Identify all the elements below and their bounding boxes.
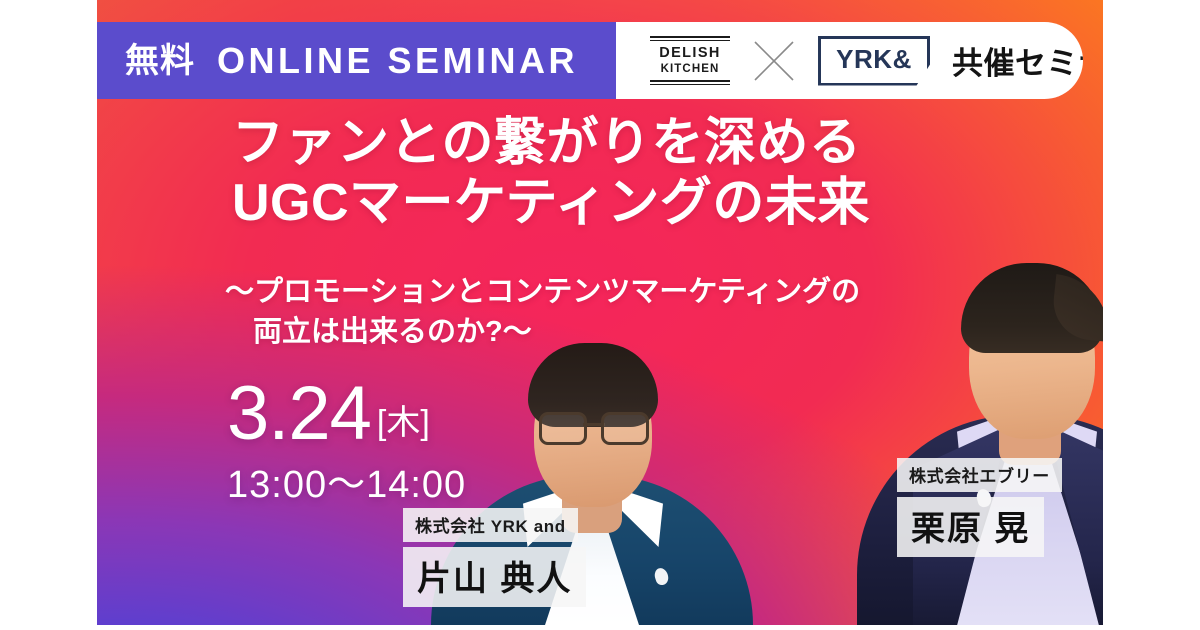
- subtitle-line-1: 〜プロモーションとコンテンツマーケティングの: [225, 272, 945, 312]
- subtitle-line-2: 両立は出来るのか?〜: [225, 312, 945, 352]
- subtitle-block: 〜プロモーションとコンテンツマーケティングの 両立は出来るのか?〜: [225, 272, 945, 352]
- delish-kitchen-logo: DELISH KITCHEN: [650, 36, 730, 86]
- title-line-1: ファンとの繋がりを深める: [232, 113, 992, 173]
- logo-rule-bottom-thin: [650, 84, 730, 86]
- event-date: 3.24: [227, 378, 371, 450]
- eyeglasses-icon: [539, 412, 649, 439]
- header-bar: 無料 ONLINE SEMINAR DELISH KITCHEN YRK& 共催…: [97, 22, 1083, 99]
- logo-rule-top: [650, 36, 730, 38]
- logo-rule-bottom: [650, 80, 730, 82]
- seminar-banner: 無料 ONLINE SEMINAR DELISH KITCHEN YRK& 共催…: [97, 0, 1103, 625]
- nameplate-katayama: 株式会社 YRK and 片山 典人: [403, 508, 586, 607]
- delish-logo-line2: KITCHEN: [650, 62, 730, 79]
- delish-logo-line1: DELISH: [650, 41, 730, 62]
- logos-block: DELISH KITCHEN YRK& 共催セミナー: [616, 22, 1083, 99]
- speaker-company: 株式会社 YRK and: [403, 508, 578, 542]
- speaker-company: 株式会社エブリー: [897, 458, 1062, 492]
- event-time: 13:00〜14:00: [227, 466, 466, 504]
- online-seminar-label: ONLINE SEMINAR: [217, 22, 616, 99]
- speaker-name: 片山 典人: [403, 547, 586, 607]
- nameplate-kurihara: 株式会社エブリー 栗原 晃: [897, 458, 1062, 557]
- yrk-and-logo: YRK&: [818, 36, 930, 86]
- free-badge: 無料: [125, 44, 195, 78]
- speaker-photo-kurihara: [857, 195, 1103, 625]
- title-line-2: UGCマーケティングの未来: [232, 173, 992, 233]
- yrk-logo-text: YRK&: [818, 36, 930, 86]
- date-row: 3.24 [木]: [227, 378, 466, 450]
- speaker-name: 栗原 晃: [897, 497, 1044, 557]
- date-time-block: 3.24 [木] 13:00〜14:00: [227, 378, 466, 504]
- event-day-of-week: [木]: [377, 406, 430, 450]
- cross-icon: [752, 39, 796, 83]
- title-block: ファンとの繋がりを深める UGCマーケティングの未来: [232, 113, 992, 234]
- free-badge-block: 無料: [97, 22, 217, 99]
- cohost-seminar-label: 共催セミナー: [952, 38, 1083, 83]
